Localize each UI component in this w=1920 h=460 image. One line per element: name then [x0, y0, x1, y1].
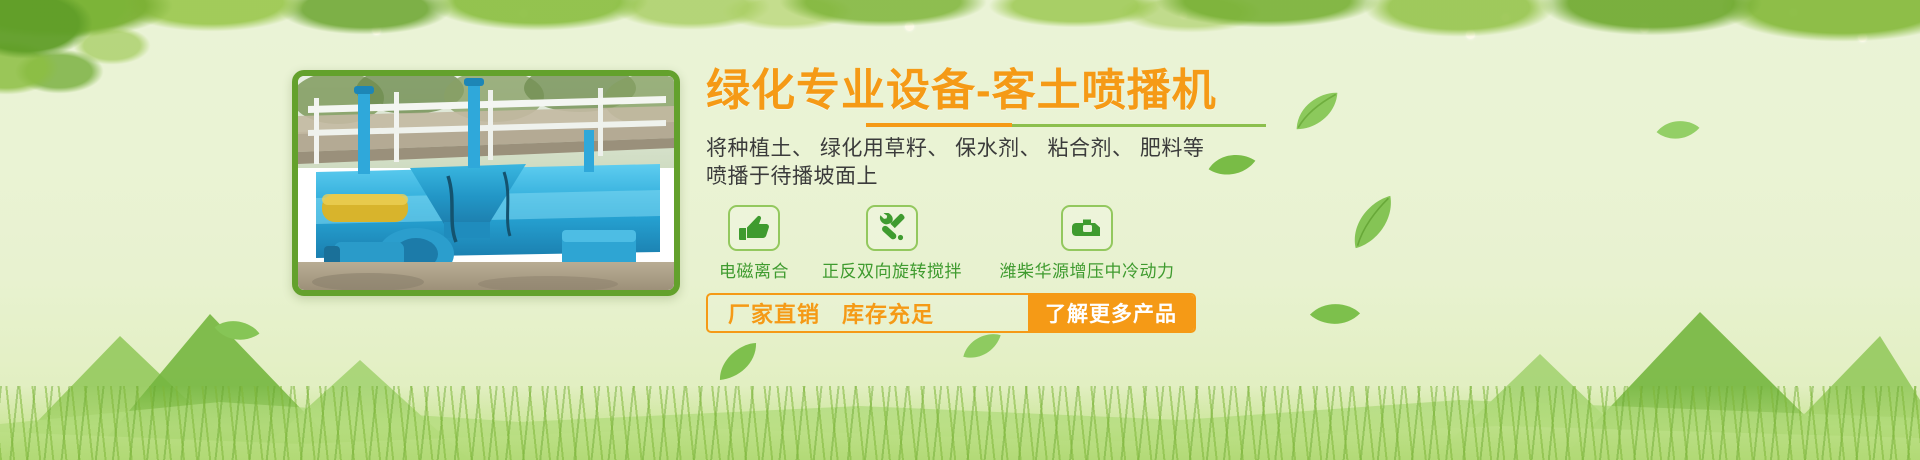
- wrench-screwdriver-icon: [866, 205, 918, 251]
- feature-label: 电磁离合: [706, 257, 802, 282]
- grass-strip-decoration: [0, 386, 1920, 460]
- foliage-left-corner-decoration: [0, 0, 310, 175]
- cta-slogan-2: 库存充足: [842, 297, 934, 329]
- subtitle-line-2: 喷播于待播坡面上: [706, 163, 1306, 191]
- cta-slogan-1: 厂家直销: [728, 297, 820, 329]
- thumbs-up-icon: [728, 205, 780, 251]
- learn-more-button[interactable]: 了解更多产品: [1028, 295, 1194, 331]
- divider-green-segment: [1012, 124, 1266, 127]
- feature-label: 潍柴华源增压中冷动力: [982, 257, 1192, 282]
- feature-item: 潍柴华源增压中冷动力: [982, 205, 1192, 282]
- product-photo-image: [298, 76, 674, 290]
- headline: 绿化专业设备-客土喷播机: [706, 68, 1306, 114]
- subtitle-line-1: 将种植土、 绿化用草籽、 保水剂、 粘合剂、 肥料等: [706, 135, 1306, 163]
- banner-content: 绿化专业设备-客土喷播机 将种植土、 绿化用草籽、 保水剂、 粘合剂、 肥料等 …: [706, 68, 1306, 333]
- title-divider: [706, 123, 1266, 127]
- floating-leaf-icon: [1338, 191, 1407, 252]
- cta-bar: 厂家直销 库存充足 了解更多产品: [706, 293, 1196, 333]
- floating-leaf-icon: [1654, 112, 1703, 147]
- feature-item: 正反双向旋转搅拌: [802, 205, 982, 282]
- engine-icon: [1061, 205, 1113, 251]
- cta-slogans: 厂家直销 库存充足: [708, 297, 1028, 329]
- feature-list: 电磁离合 正反双向旋转搅拌: [706, 205, 1306, 282]
- subtitle: 将种植土、 绿化用草籽、 保水剂、 粘合剂、 肥料等 喷播于待播坡面上: [706, 135, 1306, 190]
- divider-orange-segment: [866, 123, 1012, 127]
- feature-item: 电磁离合: [706, 205, 802, 282]
- hero-banner: 绿化专业设备-客土喷播机 将种植土、 绿化用草籽、 保水剂、 粘合剂、 肥料等 …: [0, 0, 1920, 460]
- feature-label: 正反双向旋转搅拌: [802, 257, 982, 282]
- product-photo: [292, 70, 680, 296]
